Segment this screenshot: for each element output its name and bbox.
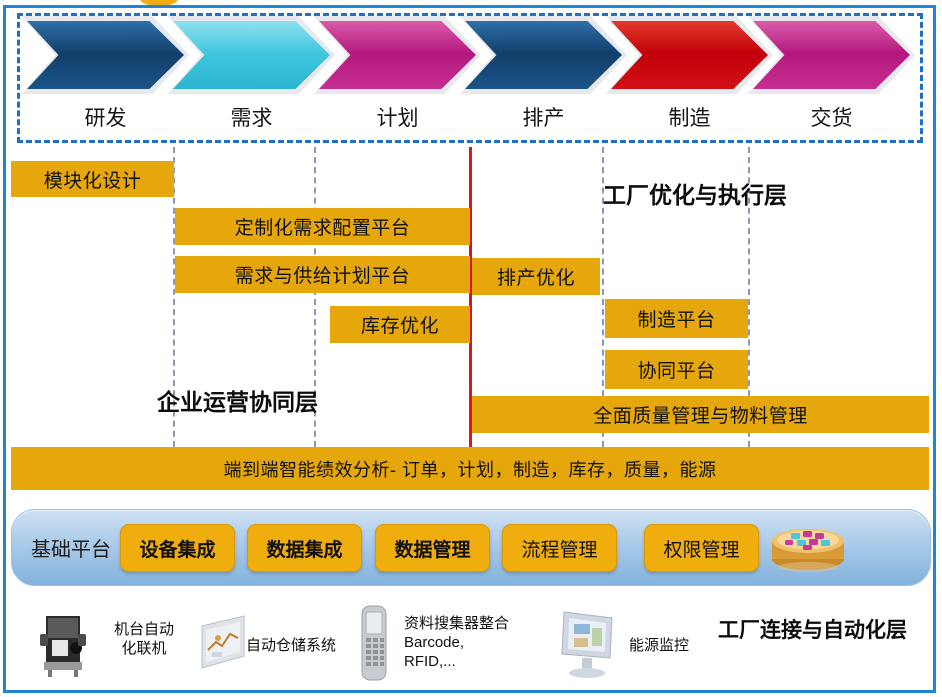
chevron-step-paichan[interactable] xyxy=(460,16,627,94)
bar-demand-supply-plan-platform[interactable]: 需求与供给计划平台 xyxy=(175,256,470,293)
automation-caption-energy: 能源监控 xyxy=(629,636,689,655)
layer-title-factory-automation: 工厂连接与自动化层 xyxy=(718,617,933,645)
chevron-step-jiaohuo[interactable] xyxy=(748,16,915,94)
warehouse-screen-icon xyxy=(196,612,250,677)
bar-custom-demand-config-platform[interactable]: 定制化需求配置平台 xyxy=(175,208,470,245)
value-chain-row: 研发 需求 计划 排产 制造 交货 xyxy=(22,16,914,100)
automation-caption-warehouse: 自动仓储系统 xyxy=(246,636,336,655)
chevron-step-jihua[interactable] xyxy=(314,16,481,94)
bar-inventory-optimization[interactable]: 库存优化 xyxy=(330,306,470,343)
chevron-label-jihua: 计划 xyxy=(314,102,481,132)
handheld-scanner-icon xyxy=(356,604,392,689)
chevron-label-paichan: 排产 xyxy=(460,102,627,132)
bar-manufacturing-platform[interactable]: 制造平台 xyxy=(605,299,748,338)
bar-collaboration-platform[interactable]: 协同平台 xyxy=(605,350,748,389)
layer-title-factory-optimization: 工厂优化与执行层 xyxy=(603,176,787,210)
bar-end-to-end-performance-analytics[interactable]: 端到端智能绩效分析- 订单，计划，制造，库存，质量，能源 xyxy=(11,447,929,490)
machine-icon xyxy=(32,608,94,685)
automation-caption-scanner: 资料搜集器整合 Barcode, RFID,... xyxy=(404,614,509,671)
bar-production-scheduling-optimization[interactable]: 排产优化 xyxy=(472,258,600,295)
bar-modular-design[interactable]: 模块化设计 xyxy=(11,161,174,197)
base-button-permission-management[interactable]: 权限管理 xyxy=(644,524,759,572)
diagram-canvas: 研发 需求 计划 排产 制造 交货 模块化设计 定制化需求配置平台 需求与供给计… xyxy=(0,0,942,697)
chevron-label-xuqiu: 需求 xyxy=(168,102,335,132)
energy-monitor-icon xyxy=(550,606,622,685)
layer-title-enterprise-collaboration: 企业运营协同层 xyxy=(157,383,318,417)
base-platform-label: 基础平台 xyxy=(31,533,111,562)
base-button-data-management[interactable]: 数据管理 xyxy=(375,524,490,572)
bar-total-quality-material-management[interactable]: 全面质量管理与物料管理 xyxy=(472,396,929,433)
chevron-step-yanfa[interactable] xyxy=(22,16,189,94)
layered-disc-icon xyxy=(769,519,847,573)
chevron-label-yanfa: 研发 xyxy=(22,102,189,132)
chevron-step-xuqiu[interactable] xyxy=(168,16,335,94)
base-button-device-integration[interactable]: 设备集成 xyxy=(120,524,235,572)
chevron-step-zhizao[interactable] xyxy=(606,16,773,94)
automation-caption-machine: 机台自动 化联机 xyxy=(104,620,184,658)
base-button-process-management[interactable]: 流程管理 xyxy=(502,524,617,572)
base-button-data-integration[interactable]: 数据集成 xyxy=(247,524,362,572)
chevron-label-jiaohuo: 交货 xyxy=(748,102,915,132)
